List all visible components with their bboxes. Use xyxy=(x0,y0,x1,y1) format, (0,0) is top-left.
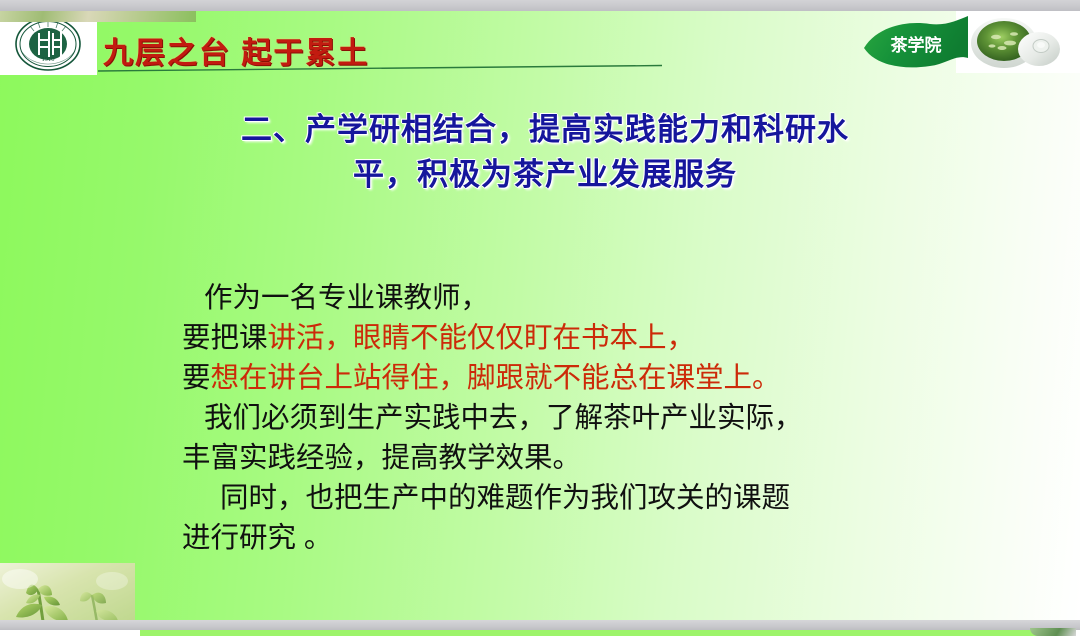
green-tea-bowl-photo xyxy=(966,13,1062,77)
body-text-segment: 我们必须到生产实践中去，了解茶叶产业实际， xyxy=(204,402,803,434)
seal-year-text: 1910 xyxy=(42,56,55,63)
slide-canvas: 1910 九层之台 起于累土 xyxy=(0,11,1080,620)
presentation-screen: 1910 九层之台 起于累土 xyxy=(0,0,1080,636)
tea-college-badge-group: 茶学院 xyxy=(860,11,1080,91)
next-slide-green-strip xyxy=(140,630,1060,636)
header-divider-rule xyxy=(98,63,662,73)
body-line: 要想在讲台上站得住，脚跟就不能总在课堂上。 xyxy=(182,358,922,398)
university-seal-icon: 1910 xyxy=(8,16,88,72)
slide-title-line-2: 平，积极为茶产业发展服务 xyxy=(150,152,940,197)
tea-leaf-plant-photo xyxy=(0,563,135,620)
body-line: 进行研究 。 xyxy=(182,518,922,558)
window-bottom-bar xyxy=(0,620,1080,630)
body-text-segment: 作为一名专业课教师， xyxy=(204,282,489,314)
body-text-segment: 要把课 xyxy=(182,322,268,354)
top-left-leaf-strip xyxy=(0,11,196,22)
slide-title-line-1: 二、产学研相结合，提高实践能力和科研水 xyxy=(150,107,940,152)
body-line: 丰富实践经验，提高教学效果。 xyxy=(182,438,922,478)
body-text-segment: 要 xyxy=(182,362,211,394)
body-text-segment: 讲活，眼睛不能仅仅盯在书本上， xyxy=(268,322,696,354)
body-text-segment: 丰富实践经验，提高教学效果。 xyxy=(182,442,581,474)
green-leaf-banner-badge: 茶学院 xyxy=(860,14,972,76)
body-line: 同时，也把生产中的难题作为我们攻关的课题 xyxy=(182,478,922,518)
window-top-bar xyxy=(0,0,1080,11)
next-slide-leaf-corner xyxy=(1030,628,1076,636)
slide-body-text: 作为一名专业课教师，要把课讲活，眼睛不能仅仅盯在书本上，要想在讲台上站得住，脚跟… xyxy=(182,278,922,558)
tea-college-badge-text: 茶学院 xyxy=(891,35,942,55)
body-line: 作为一名专业课教师， xyxy=(182,278,922,318)
body-line: 要把课讲活，眼睛不能仅仅盯在书本上， xyxy=(182,318,922,358)
slide-main-title: 二、产学研相结合，提高实践能力和科研水 平，积极为茶产业发展服务 xyxy=(150,107,940,197)
body-text-segment: 同时，也把生产中的难题作为我们攻关的课题 xyxy=(220,482,790,514)
body-text-segment: 进行研究 。 xyxy=(182,522,332,554)
body-line: 我们必须到生产实践中去，了解茶叶产业实际， xyxy=(182,398,922,438)
body-text-segment: 想在讲台上站得住，脚跟就不能总在课堂上。 xyxy=(211,362,781,394)
